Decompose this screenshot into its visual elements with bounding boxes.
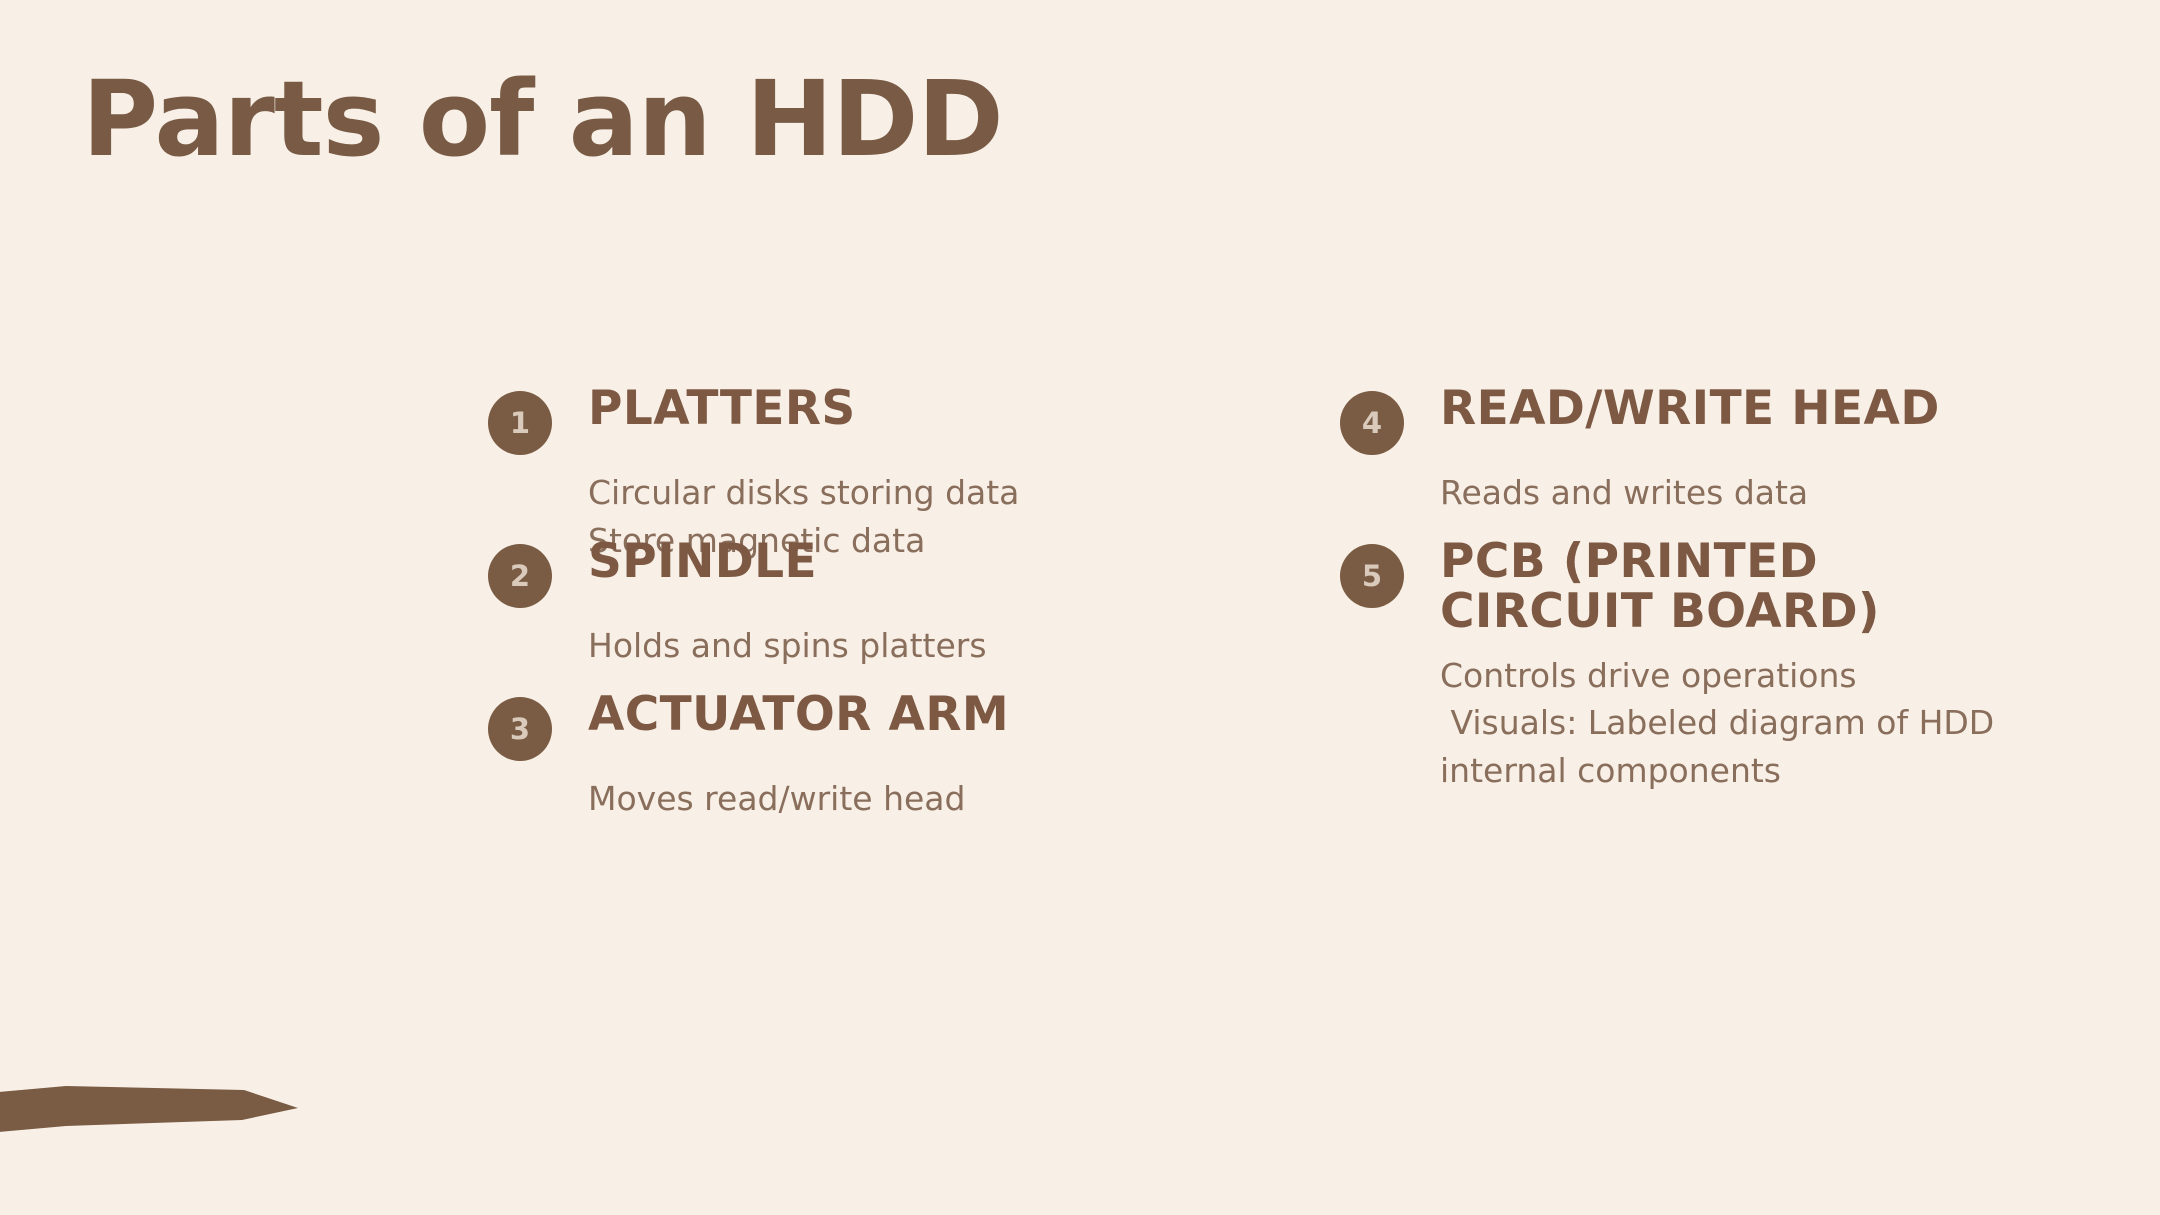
item-description-line: Circular disks storing data (588, 469, 1128, 517)
item-description: Reads and writes data (1440, 469, 1980, 517)
item-description-line: Moves read/write head (588, 775, 1128, 823)
list-item: 4 READ/WRITE HEAD Reads and writes data (1340, 381, 1980, 517)
page-title: Parts of an HDD (82, 62, 1003, 176)
parts-list: 1 PLATTERS Circular disks storing data S… (0, 381, 2160, 981)
list-item-head: 3 ACTUATOR ARM (488, 687, 1128, 761)
item-description-line: Holds and spins platters (588, 622, 1128, 670)
item-description: Holds and spins platters (588, 622, 1128, 670)
item-description-line: internal components (1440, 747, 1980, 795)
item-heading: SPINDLE (588, 534, 817, 587)
item-description: Moves read/write head (588, 775, 1128, 823)
list-item-head: 5 PCB (PRINTED CIRCUIT BOARD) (1340, 534, 1980, 638)
list-item-head: 1 PLATTERS (488, 381, 1128, 455)
item-number-badge: 3 (488, 697, 552, 761)
item-heading: READ/WRITE HEAD (1440, 381, 1940, 434)
list-item-head: 2 SPINDLE (488, 534, 1128, 608)
slide-canvas: Parts of an HDD 1 PLATTERS Circular disk… (0, 0, 2160, 1215)
item-number-badge: 2 (488, 544, 552, 608)
item-description: Controls drive operations Visuals: Label… (1440, 652, 1980, 795)
list-item: 5 PCB (PRINTED CIRCUIT BOARD) Controls d… (1340, 534, 1980, 794)
list-item-head: 4 READ/WRITE HEAD (1340, 381, 1980, 455)
list-item: 3 ACTUATOR ARM Moves read/write head (488, 687, 1128, 823)
item-description-line: Visuals: Labeled diagram of HDD (1440, 699, 1980, 747)
item-heading: PCB (PRINTED CIRCUIT BOARD) (1440, 534, 1880, 638)
item-heading: ACTUATOR ARM (588, 687, 1009, 740)
item-number-badge: 5 (1340, 544, 1404, 608)
item-description-line: Reads and writes data (1440, 469, 1980, 517)
item-description-line: Controls drive operations (1440, 652, 1980, 700)
list-item: 2 SPINDLE Holds and spins platters (488, 534, 1128, 670)
item-number-badge: 4 (1340, 391, 1404, 455)
item-number-badge: 1 (488, 391, 552, 455)
item-heading: PLATTERS (588, 381, 856, 434)
